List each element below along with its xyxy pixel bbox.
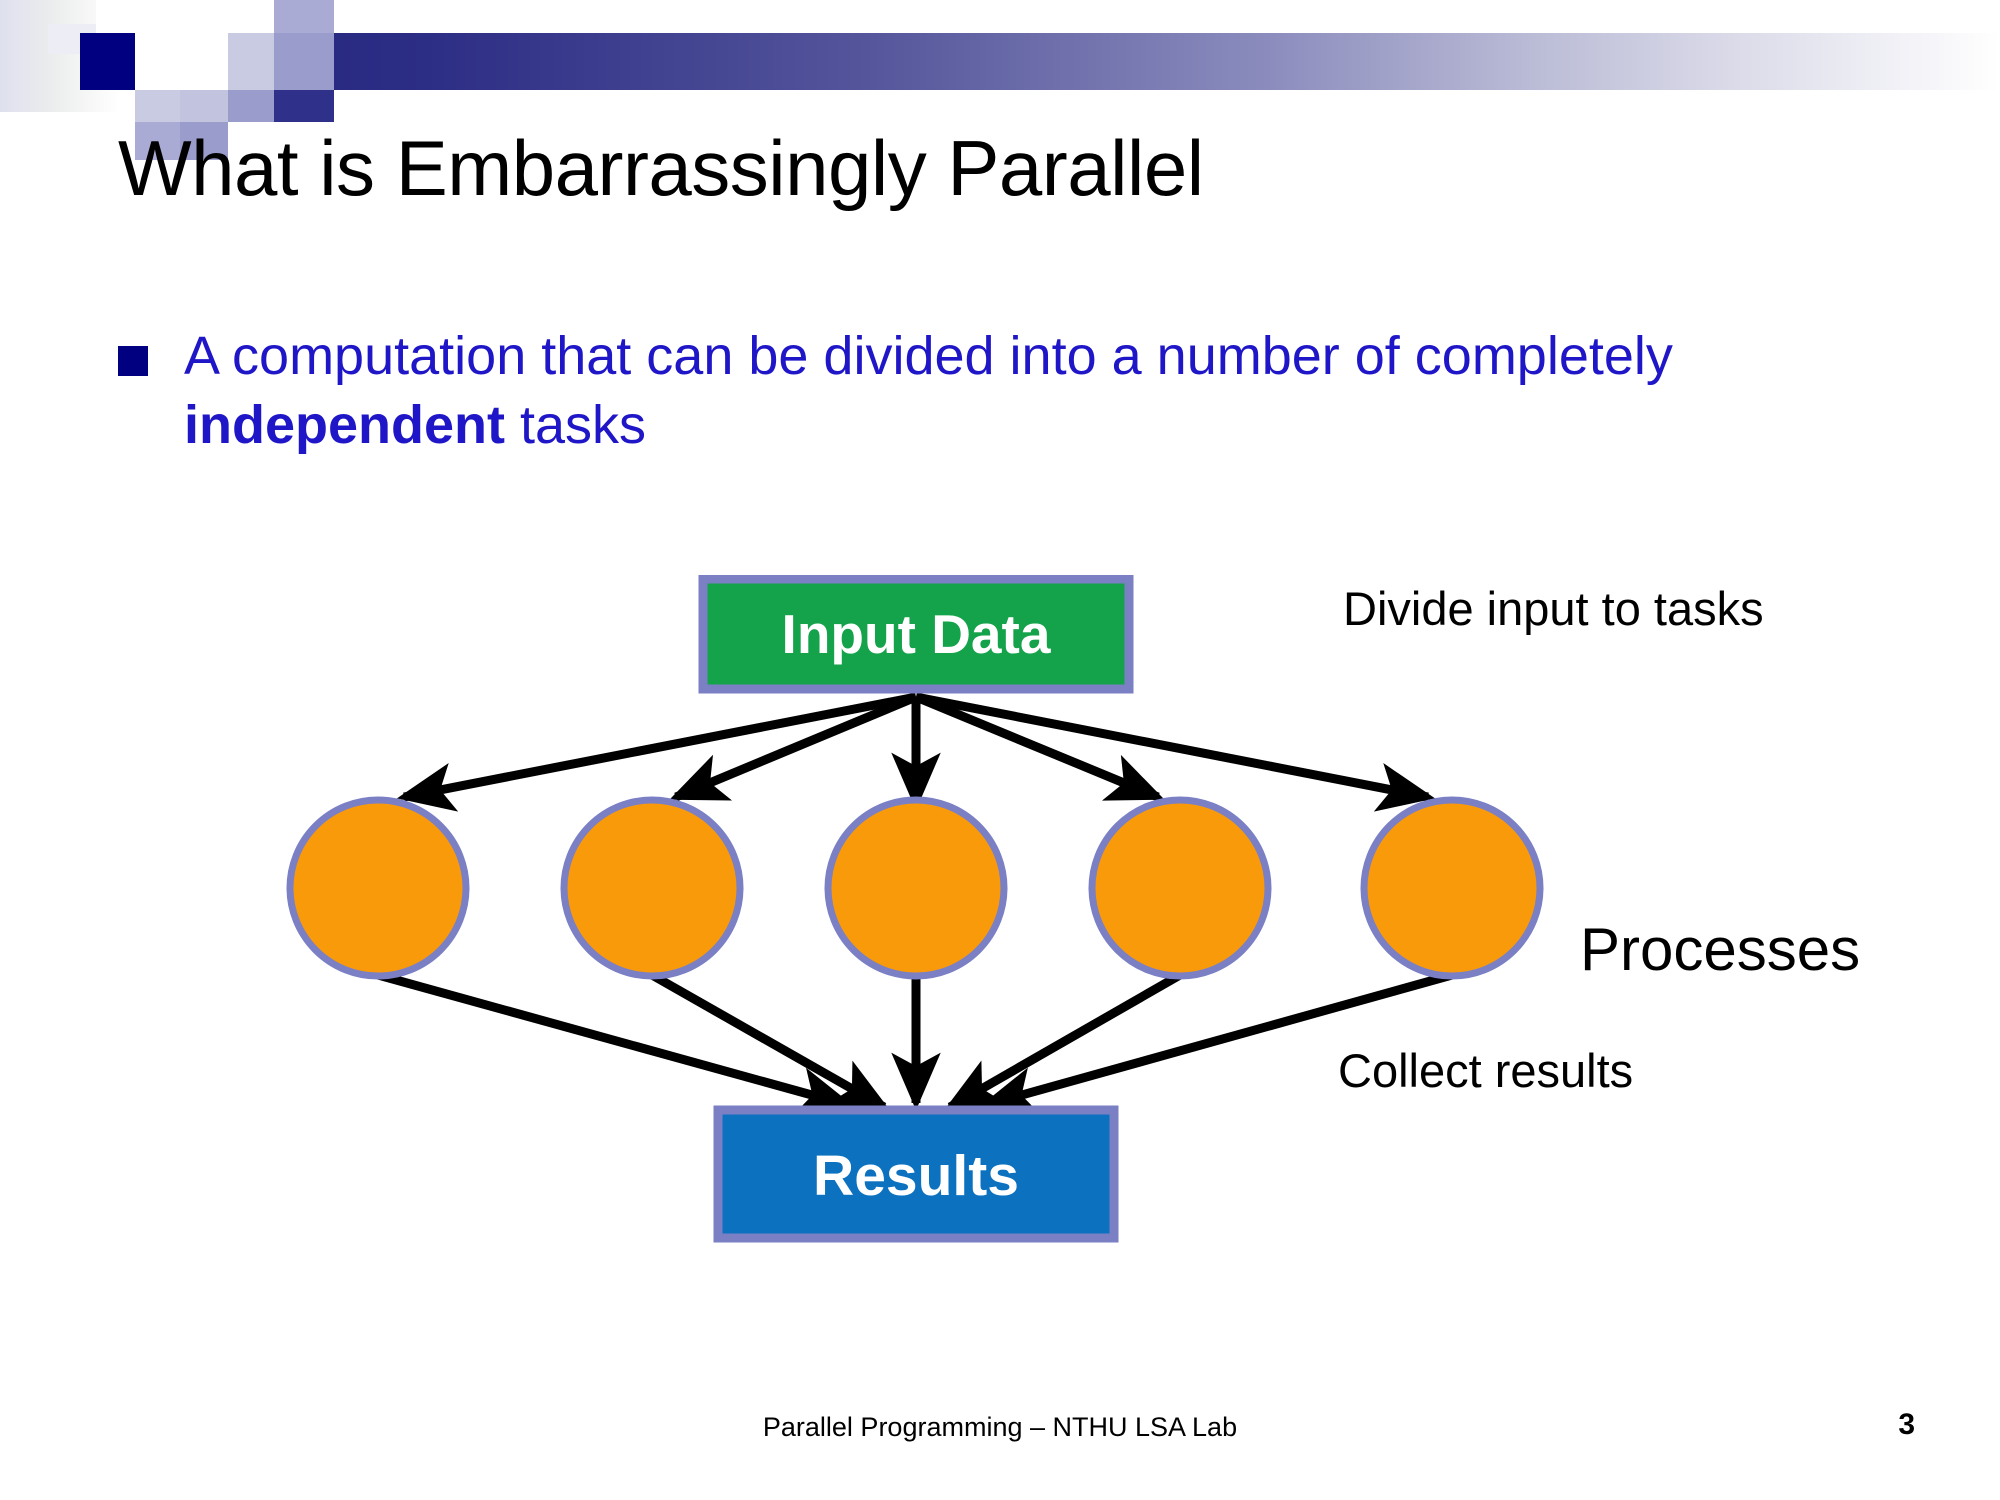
bullet-text-before: A computation that can be divided into a… — [184, 326, 1673, 386]
process-node-2[interactable] — [564, 800, 740, 976]
results-label: Results — [813, 1144, 1019, 1208]
decoration-tile-2 — [140, 0, 180, 33]
decoration-tile-9 — [228, 33, 274, 90]
list-item: A computation that can be divided into a… — [118, 322, 1908, 460]
process-circle-2[interactable] — [564, 800, 740, 976]
decoration-tile-10 — [274, 33, 334, 90]
decoration-tile-1 — [96, 0, 140, 33]
divide-arrows-group — [404, 697, 1428, 803]
bullet-list: A computation that can be divided into a… — [118, 322, 1908, 460]
collect-arrows-group — [378, 975, 1452, 1107]
decoration-tile-14 — [274, 90, 334, 122]
slide-decoration-band — [0, 0, 2000, 112]
process-node-4[interactable] — [1092, 800, 1268, 976]
page-title: What is Embarrassingly Parallel — [118, 128, 1878, 210]
decoration-tile-7 — [135, 33, 180, 90]
decoration-tile-11 — [135, 90, 180, 122]
decoration-tile-8 — [180, 33, 228, 90]
process-circle-5[interactable] — [1364, 800, 1540, 976]
divide-arrow-5 — [916, 697, 1428, 797]
divide-arrow-2 — [676, 697, 916, 797]
square-bullet-icon — [118, 346, 148, 376]
decoration-tile-5 — [274, 0, 334, 33]
decoration-tile-6 — [80, 33, 135, 90]
divide-arrow-4 — [916, 697, 1158, 797]
input-data-label: Input Data — [782, 603, 1051, 665]
annotation-collect-results: Collect results — [1338, 1044, 1633, 1097]
parallel-flow-diagram: Input Data Results Divide input to tasks… — [0, 575, 2000, 1355]
slide-footer: Parallel Programming – NTHU LSA Lab — [0, 1412, 2000, 1443]
annotation-processes: Processes — [1580, 916, 1860, 983]
bullet-text: A computation that can be divided into a… — [184, 322, 1824, 460]
divide-arrow-1 — [404, 697, 916, 797]
bullet-text-after: tasks — [505, 395, 646, 455]
process-node-3[interactable] — [828, 800, 1004, 976]
process-circle-4[interactable] — [1092, 800, 1268, 976]
process-node-5[interactable] — [1364, 800, 1540, 976]
process-circle-3[interactable] — [828, 800, 1004, 976]
decoration-tile-4 — [228, 0, 274, 33]
input-data-node[interactable]: Input Data — [703, 579, 1129, 689]
page-number: 3 — [1898, 1408, 1915, 1442]
decoration-tile-3 — [180, 0, 228, 33]
collect-arrow-1 — [378, 975, 848, 1105]
process-node-1[interactable] — [290, 800, 466, 976]
decoration-gradient-bar — [170, 33, 2000, 90]
bullet-text-emphasis: independent — [184, 395, 505, 455]
annotation-divide-input: Divide input to tasks — [1343, 582, 1764, 635]
process-circle-1[interactable] — [290, 800, 466, 976]
decoration-tile-13 — [228, 90, 274, 122]
results-node[interactable]: Results — [718, 1110, 1114, 1238]
decoration-tile-12 — [180, 90, 228, 122]
